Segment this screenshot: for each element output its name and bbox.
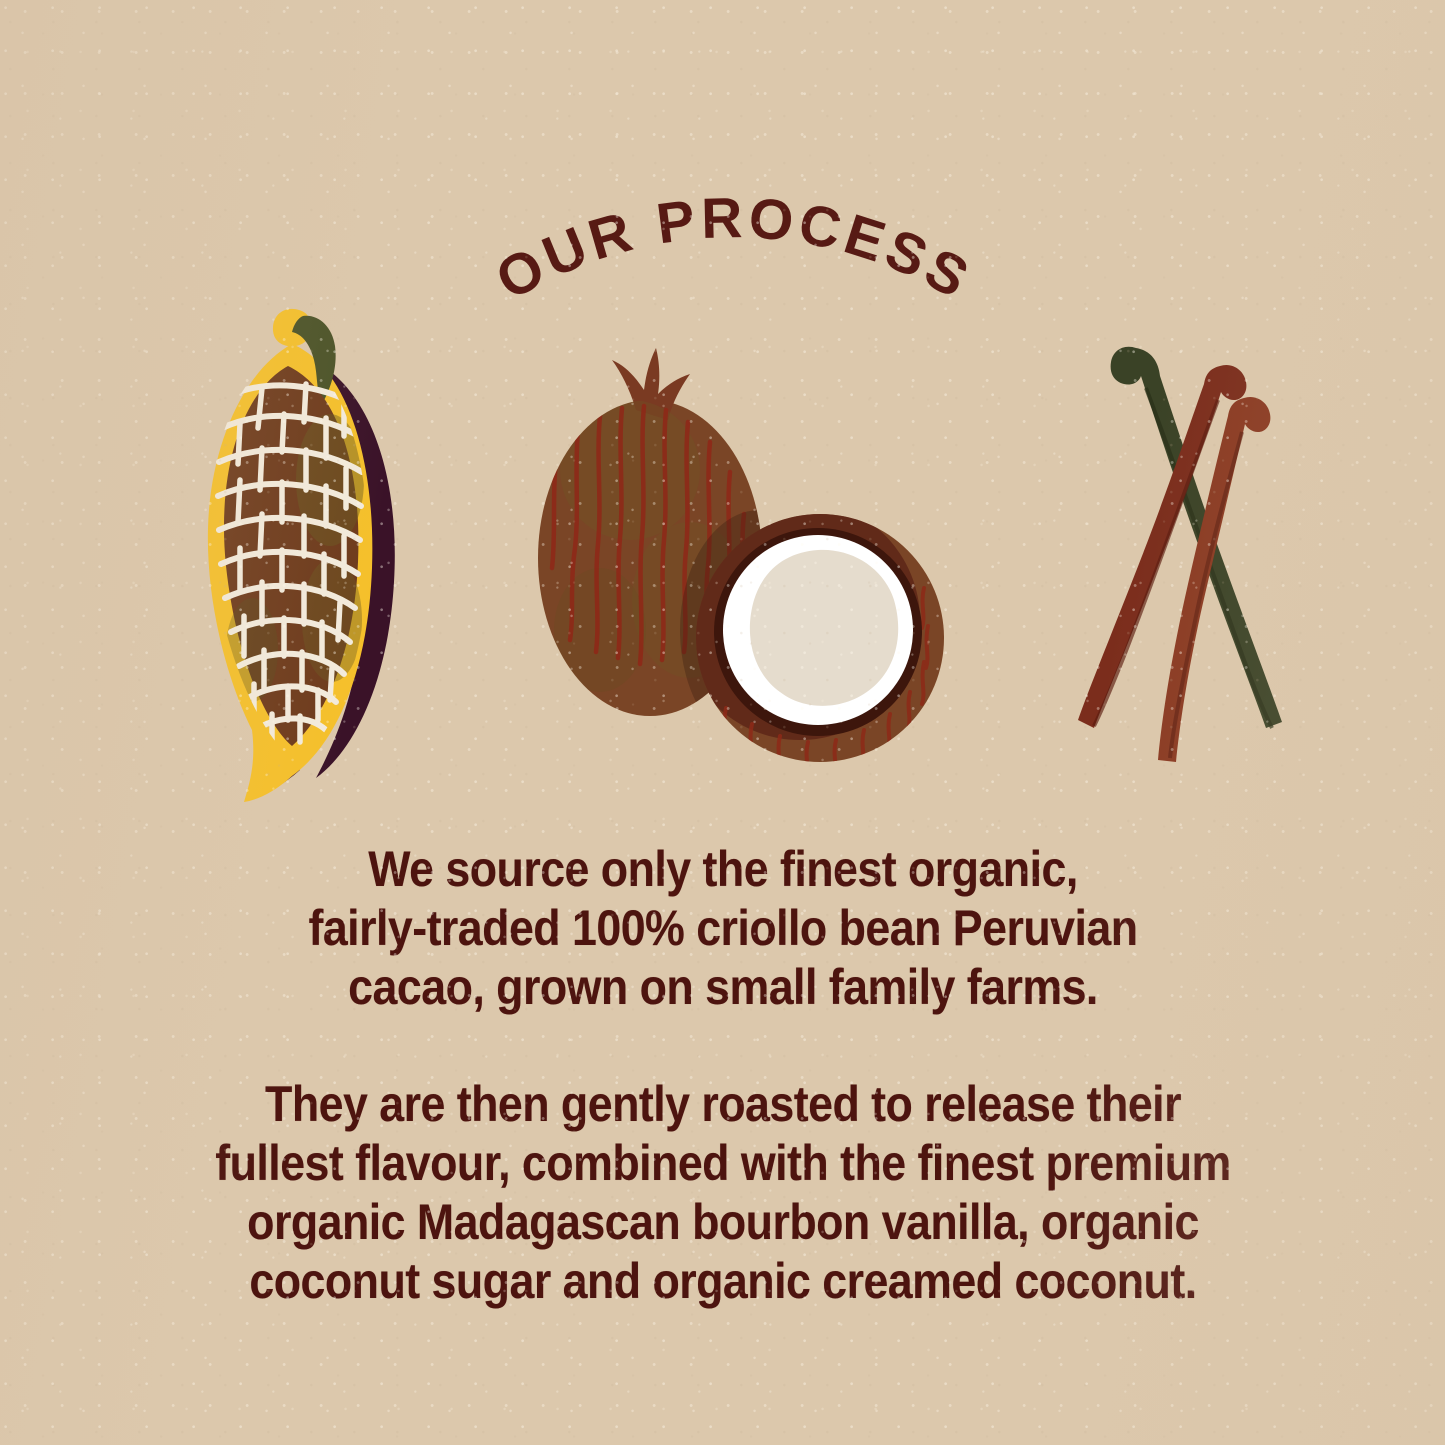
arched-heading-svg: OUR PROCESS [0, 96, 1445, 296]
paragraph-roasting-line-3: organic Madagascan bourbon vanilla, orga… [150, 1193, 1296, 1252]
ingredient-illustrations [0, 300, 1445, 800]
paragraph-sourcing-line-1: We source only the finest organic, [150, 840, 1296, 899]
vanilla-pods-icon [1078, 347, 1282, 762]
paragraph-roasting-line-1: They are then gently roasted to release … [150, 1075, 1296, 1134]
paragraph-sourcing-line-2: fairly-traded 100% criollo bean Peruvian [150, 899, 1296, 958]
heading-textpath: OUR PROCESS [486, 186, 983, 313]
coconut-inner-cavity [750, 550, 898, 706]
paragraph-roasting-line-2: fullest flavour, combined with the fines… [150, 1134, 1296, 1193]
paragraph-roasting-line-4: coconut sugar and organic creamed coconu… [150, 1252, 1296, 1311]
product-info-panel: OUR PROCESS [0, 0, 1445, 1445]
illustration-svg [0, 300, 1445, 800]
page-title: OUR PROCESS [0, 96, 1445, 296]
heading-text: OUR PROCESS [486, 186, 983, 313]
body-copy: We source only the finest organic, fairl… [0, 840, 1445, 1311]
paragraph-sourcing-line-3: cacao, grown on small family farms. [150, 958, 1296, 1017]
cacao-pod-icon [208, 309, 395, 802]
paragraph-sourcing: We source only the finest organic, fairl… [150, 840, 1296, 1017]
paragraph-roasting: They are then gently roasted to release … [150, 1075, 1296, 1311]
